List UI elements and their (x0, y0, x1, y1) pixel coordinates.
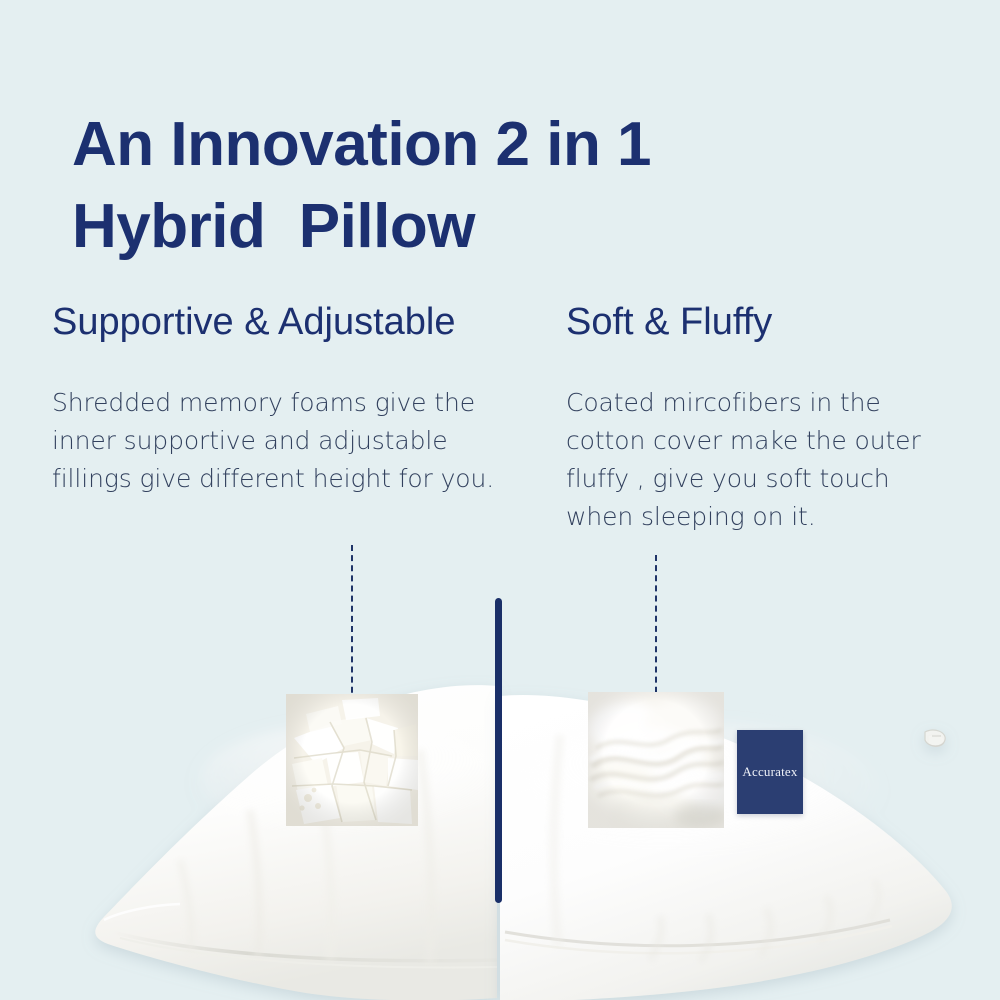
brand-label: Accuratex (742, 764, 797, 780)
callout-shredded-foam (292, 0, 412, 1000)
feature-column-supportive: Supportive & Adjustable Shredded memory … (52, 300, 522, 498)
shredded-memory-foam-closeup (292, 700, 412, 820)
callout-marker-dot-fluff (0, 25, 25, 50)
feature-body-supportive: Shredded memory foams give the inner sup… (52, 344, 522, 498)
vertical-divider-bar (495, 598, 502, 903)
pillow-right-half (500, 695, 952, 1000)
body-line: fillings give different height for you. (52, 460, 522, 498)
callout-marker-dot-foam (0, 0, 25, 25)
headline-line-2: Hybrid Pillow (72, 186, 872, 268)
headline-line-1: An Innovation 2 in 1 (72, 104, 872, 186)
microfiber-texture (588, 692, 724, 828)
body-line: inner supportive and adjustable (52, 422, 522, 460)
zipper-pull-icon-2 (925, 730, 945, 746)
microfiber-fluff-closeup (596, 700, 716, 820)
callout-leader-line (655, 555, 657, 713)
feature-heading-supportive: Supportive & Adjustable (52, 300, 522, 344)
infographic-canvas: An Innovation 2 in 1 Hybrid Pillow Suppo… (0, 0, 1000, 1000)
callout-microfiber (596, 0, 716, 1000)
callout-leader-line (351, 545, 353, 713)
body-line: Shredded memory foams give the (52, 384, 522, 422)
page-title: An Innovation 2 in 1 Hybrid Pillow (72, 104, 872, 269)
foam-chunks-texture (286, 694, 418, 826)
brand-tag: Accuratex (737, 730, 803, 814)
